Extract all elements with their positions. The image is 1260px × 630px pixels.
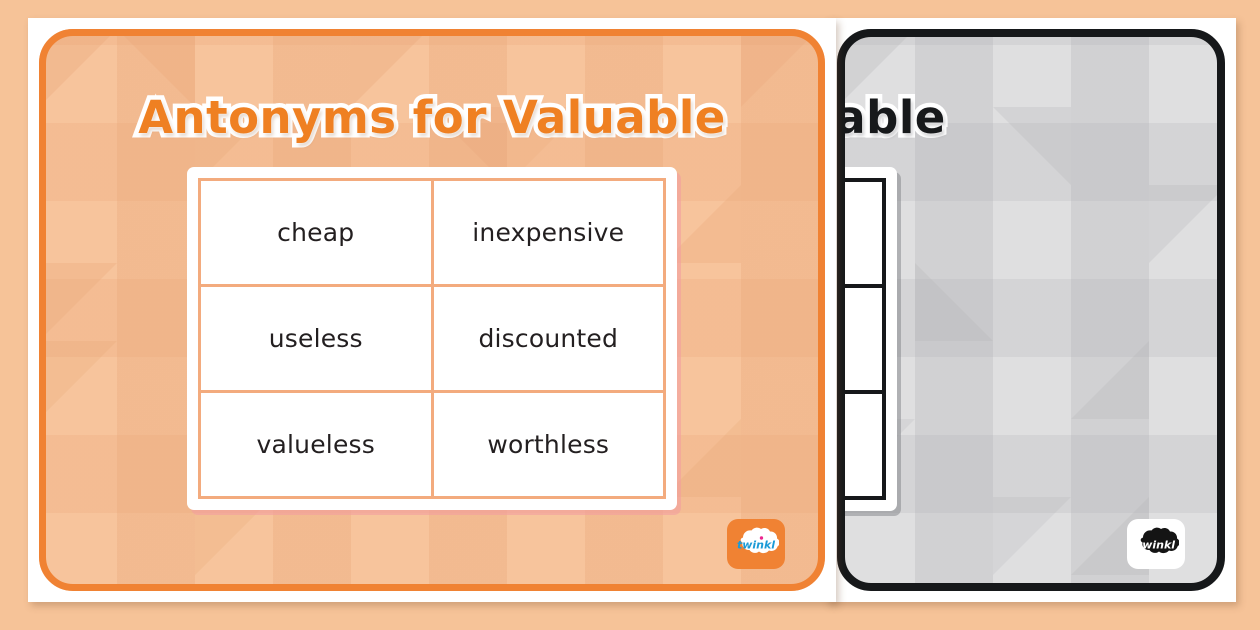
bw-word-cell: discounted xyxy=(837,286,884,392)
word-cell: useless xyxy=(200,286,433,392)
table-row: cheap inexpensive xyxy=(200,180,665,286)
table-row: useless discounted xyxy=(837,286,884,392)
table-row: valueless worthless xyxy=(837,392,884,498)
twinkl-cloud-icon: twinkl xyxy=(1133,527,1179,561)
table-row: cheap inexpensive xyxy=(837,180,884,286)
word-cell: discounted xyxy=(432,286,665,392)
bw-page-title: Antonyms for Valuable xyxy=(837,91,1045,144)
twinkl-cloud-icon: twinkl xyxy=(733,527,779,561)
bw-poster-content: Antonyms for Valuable cheap inexpensive … xyxy=(837,29,1045,591)
antonyms-table: cheap inexpensive useless discounted val… xyxy=(198,178,666,499)
bw-poster-canvas: Antonyms for Valuable cheap inexpensive … xyxy=(837,29,1225,591)
word-cell: cheap xyxy=(200,180,433,286)
poster-black-and-white[interactable]: Antonyms for Valuable cheap inexpensive … xyxy=(826,18,1236,602)
word-cell: inexpensive xyxy=(432,180,665,286)
table-row: valueless worthless xyxy=(200,392,665,498)
svg-text:twinkl: twinkl xyxy=(1137,539,1175,552)
bw-word-cell: worthless xyxy=(837,392,884,498)
table-row: useless discounted xyxy=(200,286,665,392)
colour-poster-canvas: Antonyms for Valuable cheap inexpensive … xyxy=(39,29,825,591)
page-title: Antonyms for Valuable xyxy=(39,91,825,144)
twinkl-logo[interactable]: twinkl xyxy=(727,519,785,569)
word-table-frame: cheap inexpensive useless discounted val… xyxy=(187,167,677,510)
bw-antonyms-table: cheap inexpensive useless discounted val… xyxy=(837,178,886,500)
bw-twinkl-logo[interactable]: twinkl xyxy=(1127,519,1185,569)
bw-word-table-frame: cheap inexpensive useless discounted val… xyxy=(837,167,897,511)
word-cell: worthless xyxy=(432,392,665,498)
bw-word-cell: inexpensive xyxy=(837,180,884,286)
word-cell: valueless xyxy=(200,392,433,498)
poster-colour[interactable]: Antonyms for Valuable cheap inexpensive … xyxy=(28,18,836,602)
svg-text:twinkl: twinkl xyxy=(737,539,775,552)
